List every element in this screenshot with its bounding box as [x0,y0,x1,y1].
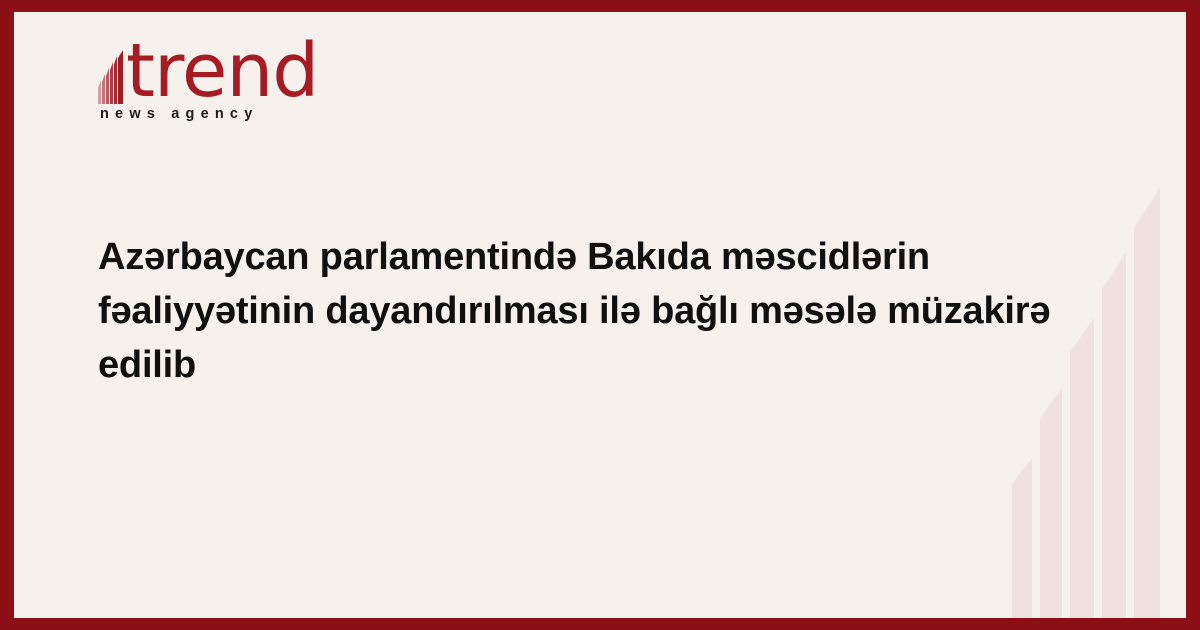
deco-bar [1134,188,1160,618]
logo-mark-bar [102,74,105,104]
logo-mark-bar [106,68,109,104]
deco-bar [1070,318,1094,618]
logo-mark-bar [98,80,101,104]
logo-mark-bar [118,50,123,104]
page-title: Azərbaycan parlamentində Bakıda məscidlə… [98,230,1073,392]
card-inner: trend news agency Azərbaycan parlamentin… [14,12,1186,618]
logo-tagline: news agency [100,106,258,122]
deco-bar [1102,253,1126,618]
deco-bar [1012,458,1032,618]
news-share-card: trend news agency Azərbaycan parlamentin… [0,0,1200,630]
logo-mark-bar [114,56,117,104]
logo-wordmark: trend [126,34,318,108]
logo-mark-bar [110,62,113,104]
trend-logo[interactable]: trend news agency [98,44,398,144]
deco-bar [1040,388,1062,618]
